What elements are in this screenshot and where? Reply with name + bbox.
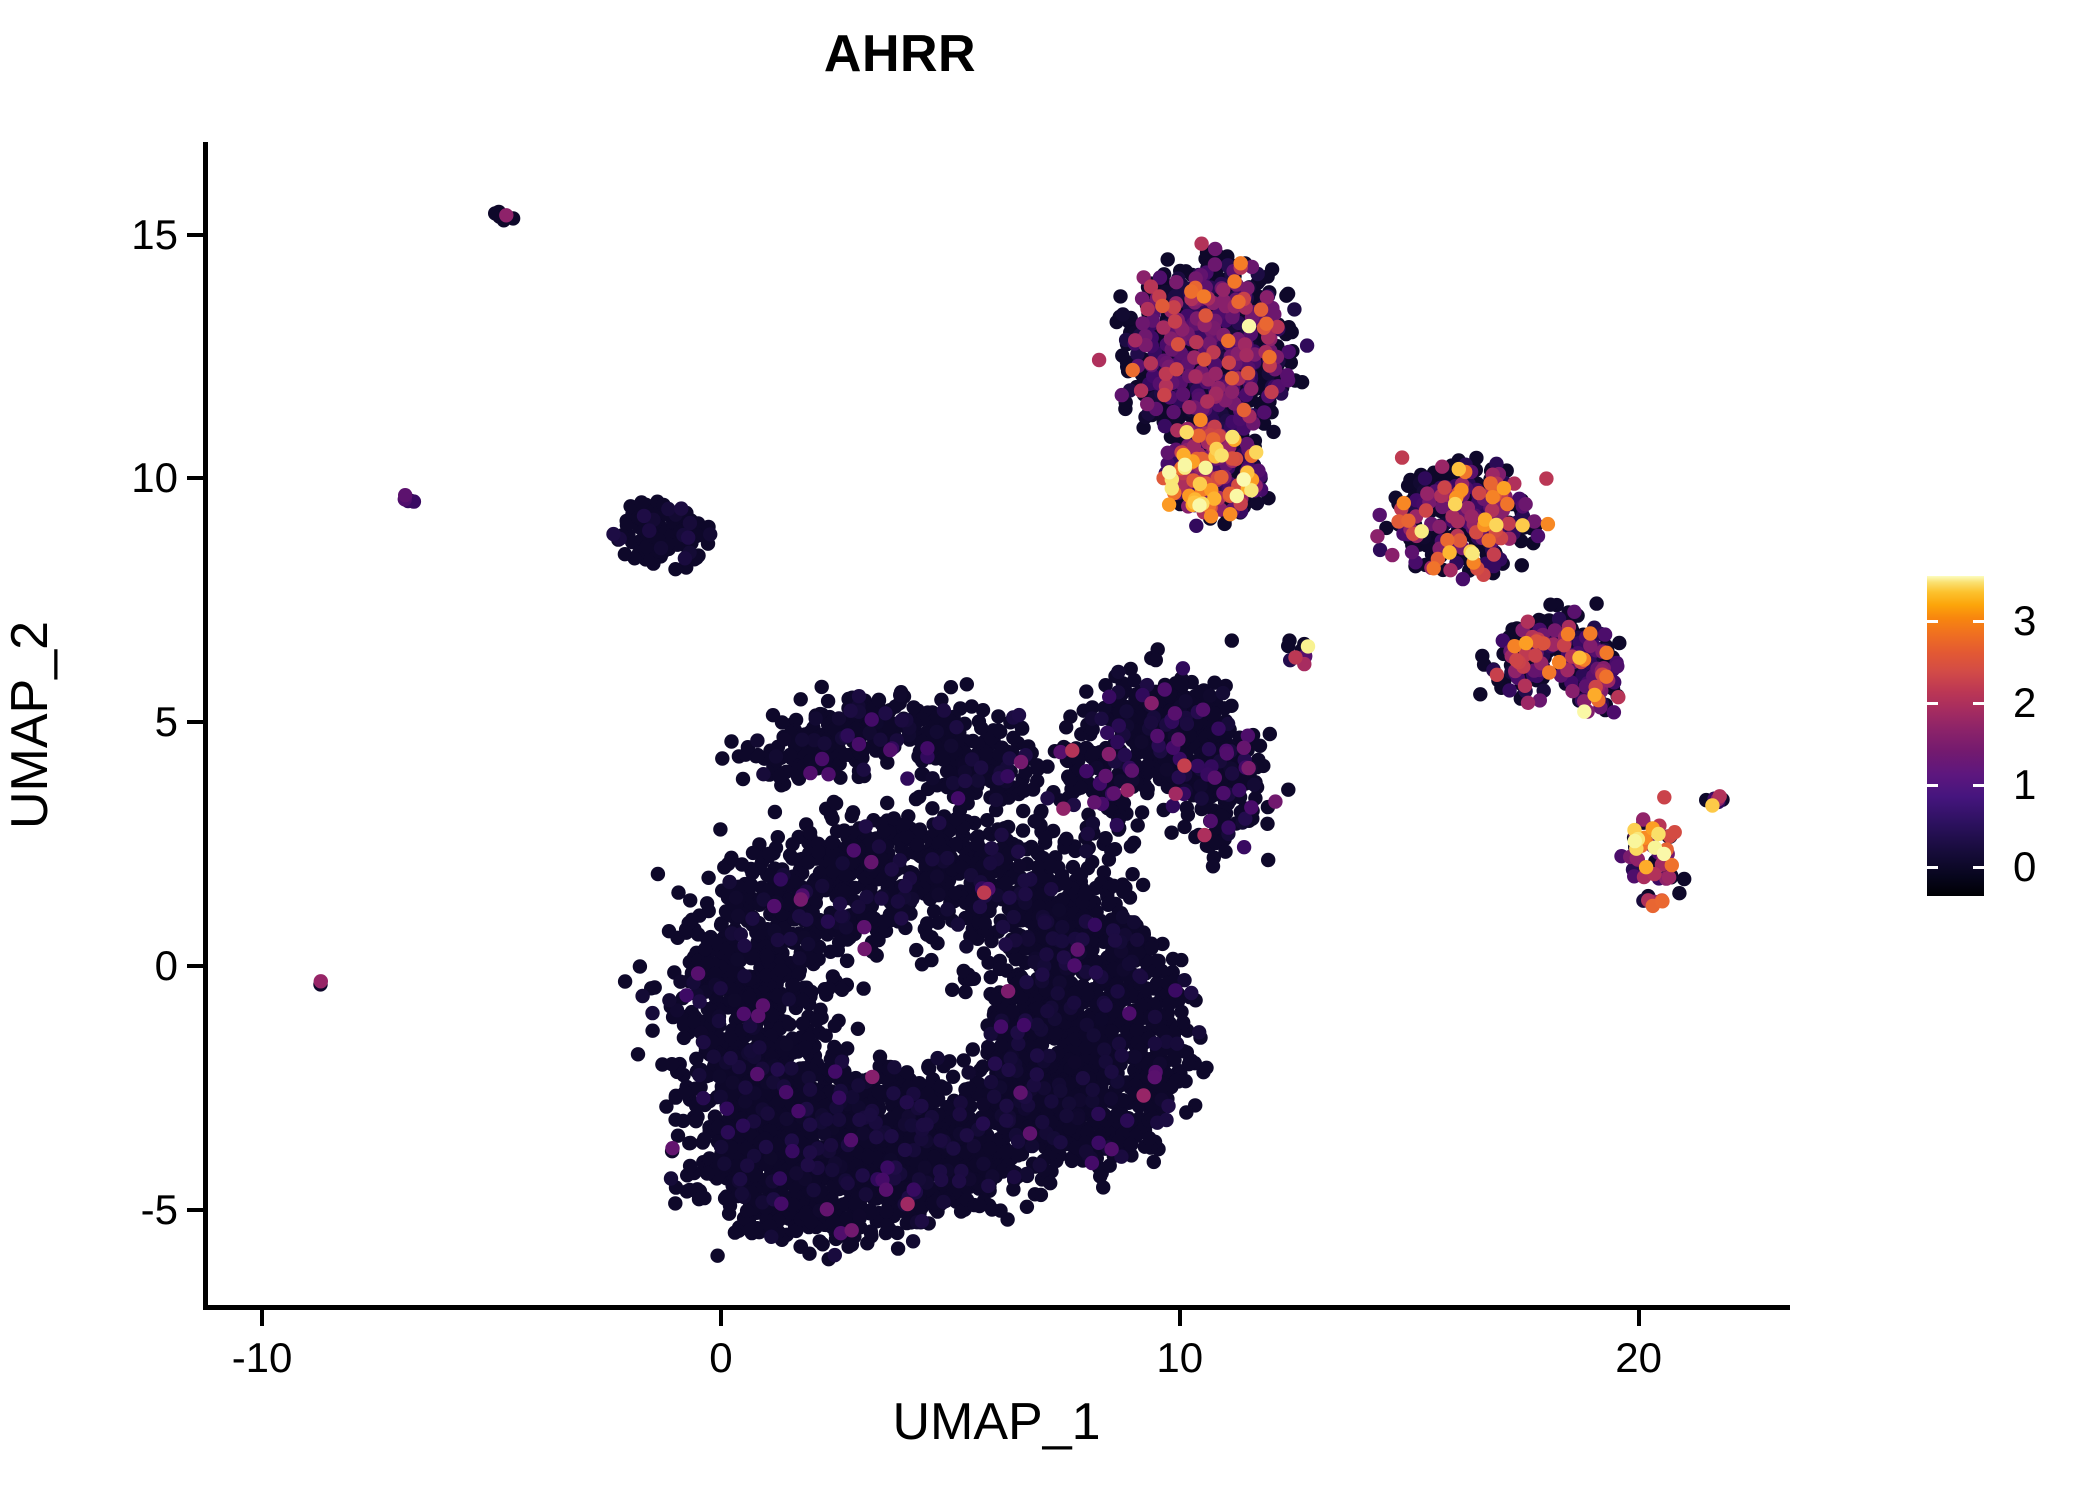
colorbar-tick-label: 2 <box>2013 679 2036 727</box>
y-tick-label: -5 <box>141 1186 178 1234</box>
page-title: AHRR <box>0 24 1800 84</box>
colorbar-gradient <box>1927 576 1984 896</box>
x-axis-title: UMAP_1 <box>203 1392 1790 1452</box>
y-tick-mark <box>187 964 203 968</box>
colorbar-tick-mark <box>1927 620 1938 623</box>
x-tick-mark <box>1637 1310 1641 1326</box>
y-tick-mark <box>187 1208 203 1212</box>
y-tick-label: 15 <box>131 211 178 259</box>
y-tick-label: 0 <box>155 942 178 990</box>
x-tick-mark <box>260 1310 264 1326</box>
y-tick-label: 5 <box>155 698 178 746</box>
color-legend: 0123 <box>1927 576 2077 906</box>
scatter-points-layer <box>207 142 1790 1307</box>
y-axis-title: UMAP_2 <box>0 0 60 1450</box>
feature-plot-figure: AHRR -5051015 -1001020 UMAP_1 UMAP_2 012… <box>0 0 2100 1500</box>
colorbar-tick-mark <box>1927 866 1938 869</box>
y-tick-label: 10 <box>131 454 178 502</box>
y-tick-mark <box>187 476 203 480</box>
colorbar-tick-mark <box>1973 702 1984 705</box>
colorbar-tick-mark <box>1973 784 1984 787</box>
x-tick-label: 20 <box>1615 1334 1662 1382</box>
colorbar-tick-label: 0 <box>2013 843 2036 891</box>
y-axis-line <box>203 142 208 1309</box>
colorbar-tick-mark <box>1927 702 1938 705</box>
colorbar-tick-label: 1 <box>2013 761 2036 809</box>
x-tick-label: 10 <box>1156 1334 1203 1382</box>
colorbar-tick-mark <box>1927 784 1938 787</box>
x-tick-mark <box>719 1310 723 1326</box>
colorbar-tick-mark <box>1973 866 1984 869</box>
x-axis-line <box>203 1305 1790 1310</box>
x-tick-label: 0 <box>709 1334 732 1382</box>
x-tick-mark <box>1178 1310 1182 1326</box>
scatter-plot-panel <box>207 142 1790 1307</box>
y-tick-mark <box>187 233 203 237</box>
colorbar-tick-label: 3 <box>2013 597 2036 645</box>
colorbar-tick-mark <box>1973 620 1984 623</box>
y-tick-mark <box>187 720 203 724</box>
x-tick-label: -10 <box>232 1334 293 1382</box>
